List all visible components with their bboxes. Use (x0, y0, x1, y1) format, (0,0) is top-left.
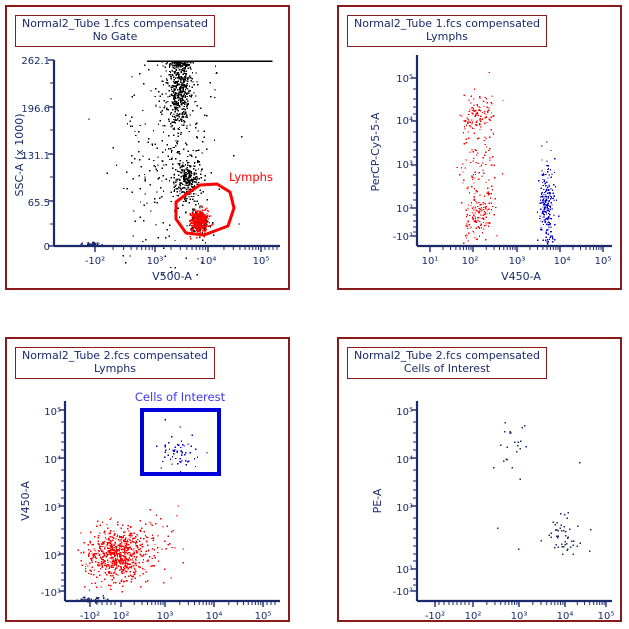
panel-title-line-1: Normal2_Tube 2.fcs compensated (354, 350, 540, 363)
panel-title-2: Normal2_Tube 1.fcs compensated Lymphs (347, 15, 547, 47)
y-tick-label: 10⁵ (396, 407, 413, 418)
x-tick-label: 10³ (157, 611, 174, 622)
x-tick-label: 10⁵ (595, 256, 612, 267)
y-tick-label: 10⁴ (396, 455, 413, 466)
figure-root: Lymphs 262.1 196.6 131.1 65.5 0 -10² 10³… (0, 0, 629, 629)
x-tick-label: 10⁴ (200, 256, 217, 267)
y-tick-label: 10³ (396, 503, 413, 514)
panel-title-1: Normal2_Tube 1.fcs compensated No Gate (15, 15, 215, 47)
y-tick-label: 10⁴ (396, 116, 413, 127)
y-tick-label: 10³ (396, 160, 413, 171)
plot-panel-3[interactable]: Cells of Interest 10⁵ 10⁴ 10³ 10² -10¹ -… (5, 337, 290, 622)
panel-title-line-1: Normal2_Tube 1.fcs compensated (22, 18, 208, 31)
x-tick-label: 10⁵ (253, 256, 270, 267)
x-axis-label-2: V450-A (501, 270, 541, 283)
y-tick-label: 65.5 (28, 198, 50, 209)
y-axis-label-4: PE-A (371, 488, 384, 513)
x-tick-label: 10⁵ (255, 611, 272, 622)
panel-title-line-1: Normal2_Tube 1.fcs compensated (354, 18, 540, 31)
x-axis-label-1: V500-A (152, 270, 192, 283)
panel-title-line-2: Lymphs (22, 363, 208, 376)
y-tick-label: -10² (393, 232, 413, 243)
axis-ticks-4 (411, 410, 606, 607)
scatter-plot-4[interactable]: 10⁵ 10⁴ 10³ 10¹ -10² -10² 10² 10³ 10⁴ 10… (339, 339, 624, 624)
y-tick-label: 262.1 (21, 56, 50, 67)
x-tick-label: 10³ (509, 256, 526, 267)
y-tick-label: 10⁵ (44, 407, 61, 418)
axis-ticks-3 (59, 410, 275, 607)
y-tick-label: 0 (44, 242, 50, 253)
y-tick-label: 10² (396, 204, 413, 215)
x-tick-label: -10² (80, 611, 100, 622)
panel-title-line-2: No Gate (22, 31, 208, 44)
y-tick-label: 10¹ (396, 565, 413, 576)
y-axis-label-1: SSC-A (x 1000) (13, 114, 26, 197)
x-tick-label: 10³ (511, 611, 528, 622)
y-tick-label: 10² (44, 551, 61, 562)
x-tick-label: -10² (425, 611, 445, 622)
x-tick-label: 10¹ (422, 256, 439, 267)
x-tick-label: 10⁵ (598, 611, 615, 622)
data-points-layer-4 (493, 422, 591, 555)
x-tick-label: 10² (465, 611, 482, 622)
x-tick-label: 10⁴ (554, 256, 571, 267)
gate-label-cells-of-interest: Cells of Interest (135, 390, 226, 404)
panel-title-line-1: Normal2_Tube 2.fcs compensated (22, 350, 208, 363)
data-points-layer-2 (457, 72, 560, 244)
axis-ticks-1 (48, 60, 277, 252)
scatter-plot-1[interactable]: Lymphs 262.1 196.6 131.1 65.5 0 -10² 10³… (7, 7, 292, 292)
scatter-plot-2[interactable]: 10⁵ 10⁴ 10³ 10² -10² 10¹ 10² 10³ 10⁴ 10⁵… (339, 7, 624, 292)
plot-panel-4[interactable]: 10⁵ 10⁴ 10³ 10¹ -10² -10² 10² 10³ 10⁴ 10… (337, 337, 622, 622)
plot-panel-1[interactable]: Lymphs 262.1 196.6 131.1 65.5 0 -10² 10³… (5, 5, 290, 290)
x-tick-label: 10² (113, 611, 130, 622)
y-tick-label: 10⁵ (396, 74, 413, 85)
gate-label-lymphs: Lymphs (229, 170, 273, 184)
gate-rect-cells-of-interest[interactable] (142, 410, 219, 474)
y-tick-label: -10¹ (41, 588, 61, 599)
scatter-plot-3[interactable]: Cells of Interest 10⁵ 10⁴ 10³ 10² -10¹ -… (7, 339, 292, 624)
y-tick-label: 196.6 (21, 104, 50, 115)
axis-ticks-2 (411, 78, 603, 252)
plot-panel-2[interactable]: 10⁵ 10⁴ 10³ 10² -10² 10¹ 10² 10³ 10⁴ 10⁵… (337, 5, 622, 290)
y-tick-label: -10² (393, 587, 413, 598)
panel-title-line-2: Cells of Interest (354, 363, 540, 376)
panel-title-line-2: Lymphs (354, 31, 540, 44)
x-tick-label: 10³ (147, 256, 164, 267)
y-axis-label-2: PerCP-Cy5-5-A (369, 112, 382, 191)
panel-title-4: Normal2_Tube 2.fcs compensated Cells of … (347, 347, 547, 379)
x-tick-label: 10⁴ (206, 611, 223, 622)
x-tick-label: -10² (85, 256, 105, 267)
panel-title-3: Normal2_Tube 2.fcs compensated Lymphs (15, 347, 215, 379)
x-tick-label: 10⁴ (557, 611, 574, 622)
y-tick-label: 10⁴ (44, 455, 61, 466)
x-tick-label: 10² (462, 256, 479, 267)
y-tick-label: 10³ (44, 503, 61, 514)
y-axis-label-3: V450-A (19, 481, 32, 521)
